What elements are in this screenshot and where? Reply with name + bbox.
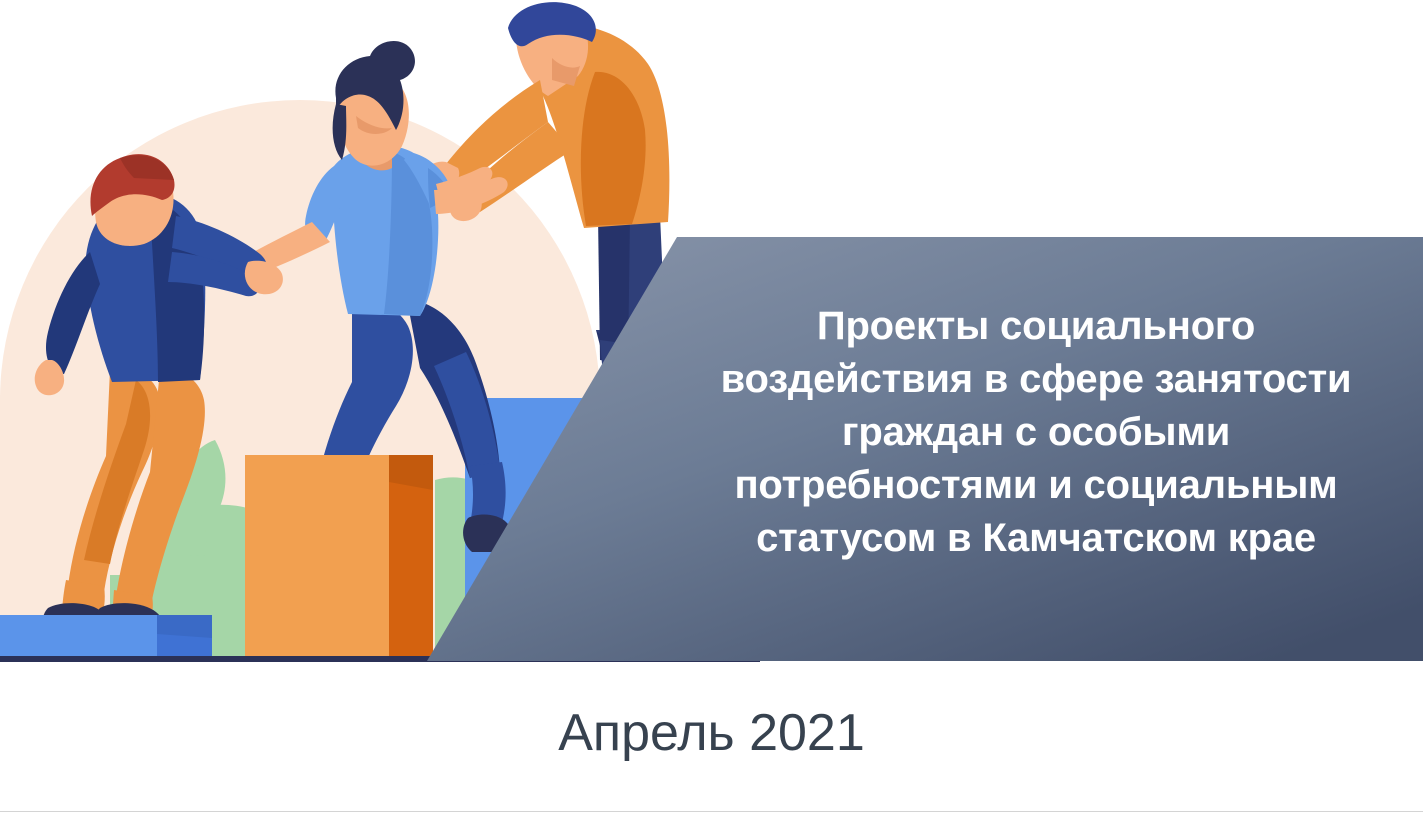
step-block-blue-left [0,615,212,661]
illustration [0,0,760,662]
subtitle-date: Апрель 2021 [0,702,1423,764]
step-block-orange [245,455,433,661]
ground-line [0,656,760,662]
illustration-svg [0,0,760,662]
bottom-divider [0,811,1423,812]
slide-root: Проекты социального воздействия в сфере … [0,0,1423,819]
page-title: Проекты социального воздействия в сфере … [686,300,1386,565]
